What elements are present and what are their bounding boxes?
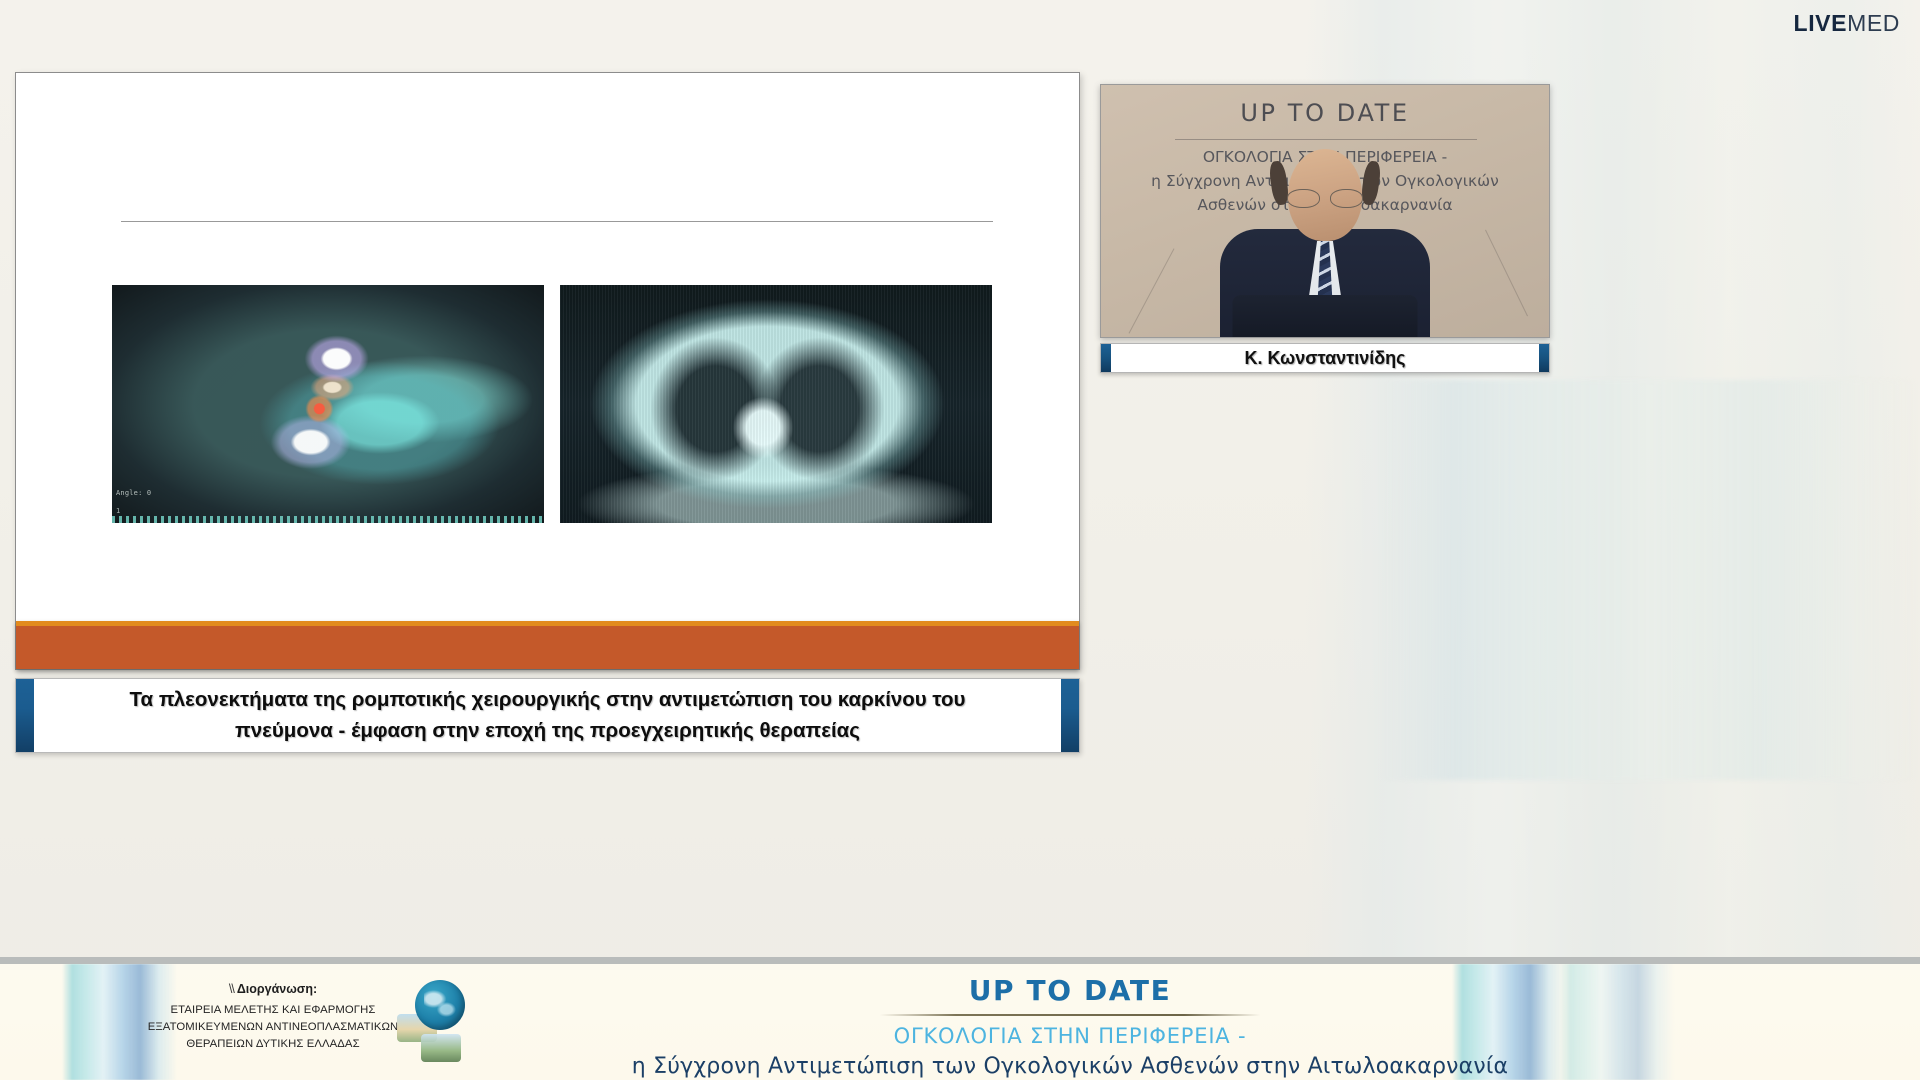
organizer-heading: \\Διοργάνωση: [118, 982, 428, 996]
organizer-block: \\Διοργάνωση: ΕΤΑΙΡΕΙΑ ΜΕΛΕΤΗΣ ΚΑΙ ΕΦΑΡΜ… [118, 982, 428, 1053]
organizer-label: Διοργάνωση: [237, 982, 317, 996]
speaker-name: Κ. Κωνσταντινίδης [1244, 348, 1405, 369]
podium-laptop [1233, 295, 1418, 337]
organizer-name-line1: ΕΤΑΙΡΕΙΑ ΜΕΛΕΤΗΣ ΚΑΙ ΕΦΑΡΜΟΓΗΣ [118, 1002, 428, 1019]
backdrop-title: UP TO DATE [1101, 99, 1549, 127]
presentation-title: Τα πλεονεκτήματα της ρομποτικής χειρουργ… [83, 685, 1013, 747]
conference-title: UP TO DATE [560, 974, 1580, 1007]
presentation-title-bar: Τα πλεονεκτήματα της ρομποτικής χειρουργ… [15, 678, 1080, 753]
nameplate-accent-left [1101, 344, 1111, 372]
livemed-logo: LIVEMED [1794, 12, 1900, 35]
speaker-glasses [1287, 189, 1363, 206]
livemed-logo-primary: LIVE [1794, 10, 1848, 36]
conference-branding: UP TO DATE ΟΓΚΟΛΟΓΙΑ ΣΤΗΝ ΠΕΡΙΦΕΡΕΙΑ - η… [560, 974, 1580, 1079]
nameplate-accent-right [1539, 344, 1549, 372]
pet-scan-render: Angle: 0 1 [112, 285, 544, 523]
speaker-hair-right [1360, 160, 1382, 206]
background-wash-accent [1380, 380, 1920, 780]
title-accent-left [16, 679, 34, 752]
pet-scan-slice-label: 1 [116, 507, 120, 515]
conference-footer: \\Διοργάνωση: ΕΤΑΙΡΕΙΑ ΜΕΛΕΤΗΣ ΚΑΙ ΕΦΑΡΜ… [0, 957, 1920, 1080]
logo-globe-icon [415, 980, 465, 1030]
speaker-figure [1215, 137, 1435, 337]
pet-scan-image: Angle: 0 1 [112, 285, 544, 523]
conference-subtitle-1: ΟΓΚΟΛΟΓΙΑ ΣΤΗΝ ΠΕΡΙΦΕΡΕΙΑ - [560, 1024, 1580, 1048]
slide-divider-rule [121, 221, 993, 222]
organizer-name-line2: ΕΞΑΤΟΜΙΚΕΥΜΕΝΩΝ ΑΝΤΙΝΕΟΠΛΑΣΜΑΤΙΚΩΝ [118, 1019, 428, 1036]
livemed-logo-secondary: MED [1847, 10, 1900, 36]
slide-accent-bar [16, 621, 1079, 669]
presentation-title-line1: Τα πλεονεκτήματα της ρομποτικής χειρουργ… [130, 688, 966, 711]
speaker-nameplate: Κ. Κωνσταντινίδης [1100, 343, 1550, 373]
organizer-slashes: \\ [229, 982, 234, 996]
organizer-logo [395, 978, 481, 1064]
conference-subtitle-2: η Σύγχρονη Αντιμετώπιση των Ογκολογικών … [560, 1054, 1580, 1079]
ct-scan-image [560, 285, 992, 523]
conference-rule [880, 1014, 1260, 1016]
organizer-name-line3: ΘΕΡΑΠΕΙΩΝ ΔΥΤΙΚΗΣ ΕΛΛΑΔΑΣ [118, 1036, 428, 1053]
logo-photo-landscape [421, 1034, 461, 1062]
presentation-title-line2: πνεύμονα - έμφαση στην εποχή της προεγχε… [235, 719, 860, 742]
speaker-video-feed[interactable]: UP TO DATE ΟΓΚΟΛΟΓΙΑ ΣΤΗΝ ΠΕΡΙΦΕΡΕΙΑ - η… [1100, 84, 1550, 338]
title-accent-right [1061, 679, 1079, 752]
ct-scan-render [560, 285, 992, 523]
pet-scan-angle-label: Angle: 0 [116, 489, 151, 497]
slide-panel: Angle: 0 1 [15, 72, 1080, 670]
